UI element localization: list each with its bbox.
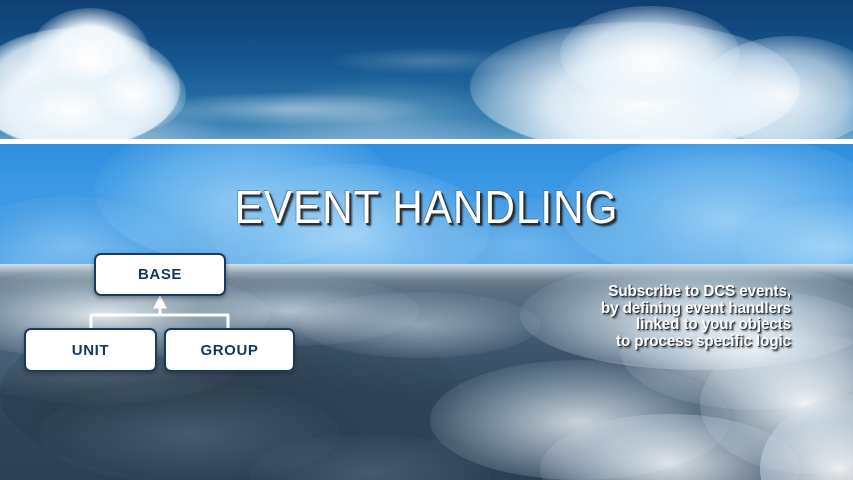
diagram-node-base[interactable]: BASE (94, 253, 226, 296)
diagram-node-group-label: GROUP (200, 342, 258, 359)
callout-line-1: Subscribe to DCS events, (478, 284, 792, 301)
slide-canvas: EVENT HANDLING BASE UNIT GROUP Subscribe… (0, 0, 853, 480)
diagram-connectors (0, 0, 853, 480)
callout-text: Subscribe to DCS events, by defining eve… (478, 284, 792, 350)
callout-line-2: by defining event handlers (478, 301, 792, 318)
diagram-node-unit[interactable]: UNIT (24, 328, 157, 372)
diagram-node-base-label: BASE (138, 266, 182, 283)
diagram-node-group[interactable]: GROUP (164, 328, 295, 372)
callout-line-4: to process specific logic (478, 334, 792, 351)
callout-line-3: linked to your objects (478, 317, 792, 334)
class-diagram: BASE UNIT GROUP (0, 0, 853, 480)
diagram-node-unit-label: UNIT (72, 342, 109, 359)
